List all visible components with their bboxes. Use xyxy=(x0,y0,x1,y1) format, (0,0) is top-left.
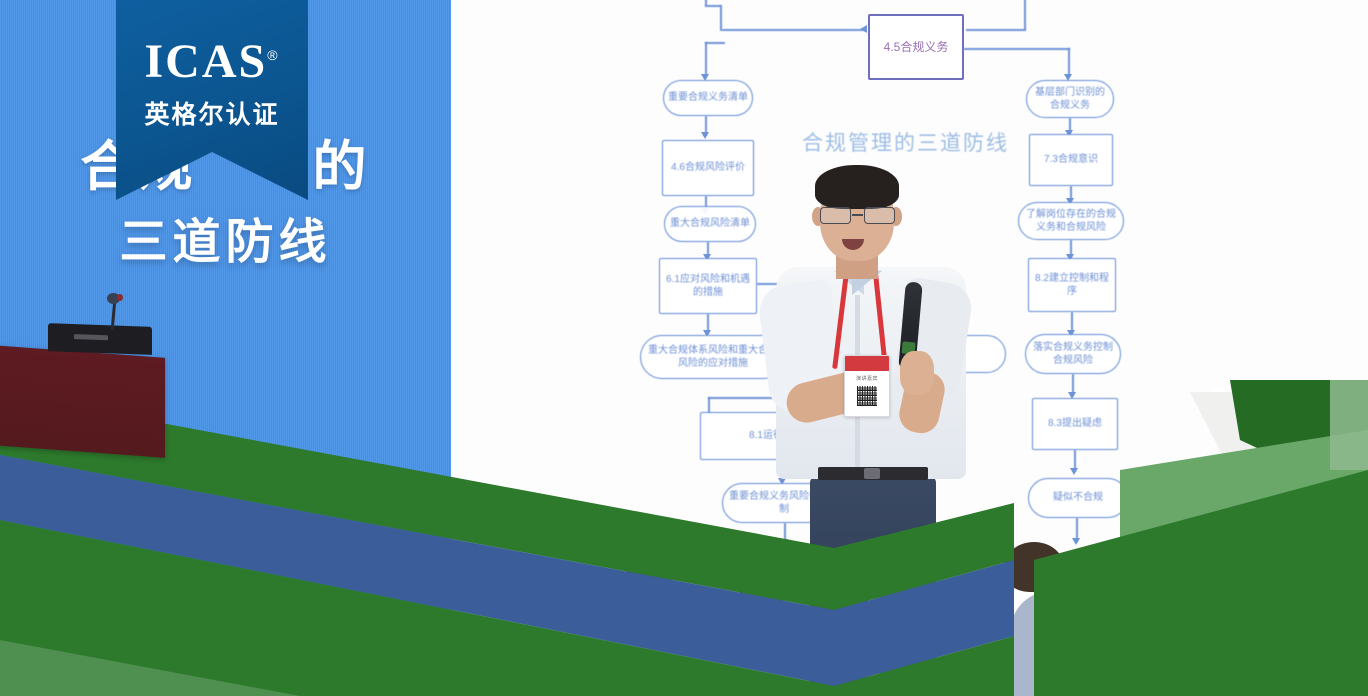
banner-subtitle: 三道防线 xyxy=(0,205,451,269)
flow-node-4-5: 4.5合规义务 xyxy=(868,14,964,80)
flow-node-7-3: 7.3合规意识 xyxy=(1029,134,1113,186)
flow-arrow xyxy=(701,132,709,139)
belt-buckle xyxy=(864,468,880,479)
flow-line xyxy=(964,48,1070,50)
qr-code-icon xyxy=(857,386,877,406)
audience-head xyxy=(736,556,800,602)
conference-badge: 演讲嘉宾 xyxy=(844,355,890,417)
flow-line xyxy=(722,29,866,31)
banner-title-right: 的 xyxy=(313,122,371,201)
flow-arrow xyxy=(1072,538,1080,545)
flow-node-8-3: 8.3提出疑虑 xyxy=(1032,398,1118,450)
flow-node-suspected-noncompliance: 疑似不合规 xyxy=(1028,478,1128,518)
registered-trademark-icon: ® xyxy=(267,47,279,63)
podium-mic-icon xyxy=(107,293,120,304)
flow-line xyxy=(1068,48,1070,76)
speaker-trousers xyxy=(810,475,936,696)
flow-node-key-obligation-list: 重要合规义务清单 xyxy=(663,80,753,116)
podium xyxy=(0,345,165,458)
speaker-right-hand xyxy=(900,351,934,395)
speaker-hair xyxy=(815,165,899,209)
flow-arrow xyxy=(1070,468,1078,475)
flow-line xyxy=(705,42,707,78)
icas-logo-text: ICAS xyxy=(144,35,267,88)
badge-header xyxy=(845,356,889,371)
flow-node-major-risk-list: 重大合规风险清单 xyxy=(664,206,756,242)
badge-name-text: 演讲嘉宾 xyxy=(845,375,889,382)
flow-node-8-2: 8.2建立控制和程序 xyxy=(1028,258,1116,312)
flow-line xyxy=(966,29,1026,31)
glasses-icon xyxy=(818,207,897,225)
audience-head xyxy=(1004,542,1064,592)
flow-node-implement-control: 落实合规义务控制合规风险 xyxy=(1025,334,1121,374)
flow-line xyxy=(705,42,725,44)
stage-photo: 合规管理的三道防线 4.5合规义务 重要合规义务清单 4.6合规风险评价 重大合… xyxy=(0,0,1368,696)
podium-monitor xyxy=(48,323,152,355)
slide-heading: 合规管理的三道防线 xyxy=(802,127,1042,157)
audience-head xyxy=(624,536,686,582)
speaker-person: 演讲嘉宾 xyxy=(760,155,990,615)
flow-node-4-6: 4.6合规风险评价 xyxy=(662,140,754,196)
icas-logo-chinese: 英格尔认证 xyxy=(116,95,308,131)
flow-arrow xyxy=(860,25,867,33)
audience-shoulders xyxy=(1010,592,1106,696)
flow-line xyxy=(720,5,722,31)
flow-line xyxy=(1024,0,1026,30)
flow-line xyxy=(705,5,721,7)
icas-logo-mark: ICAS® xyxy=(116,38,308,86)
flow-node-post-awareness: 了解岗位存在的合规义务和合规风险 xyxy=(1018,202,1124,240)
flow-node-6-1: 6.1应对风险和机遇的措施 xyxy=(659,258,757,314)
flow-node-dept-obligations: 基层部门识别的合规义务 xyxy=(1026,80,1114,118)
